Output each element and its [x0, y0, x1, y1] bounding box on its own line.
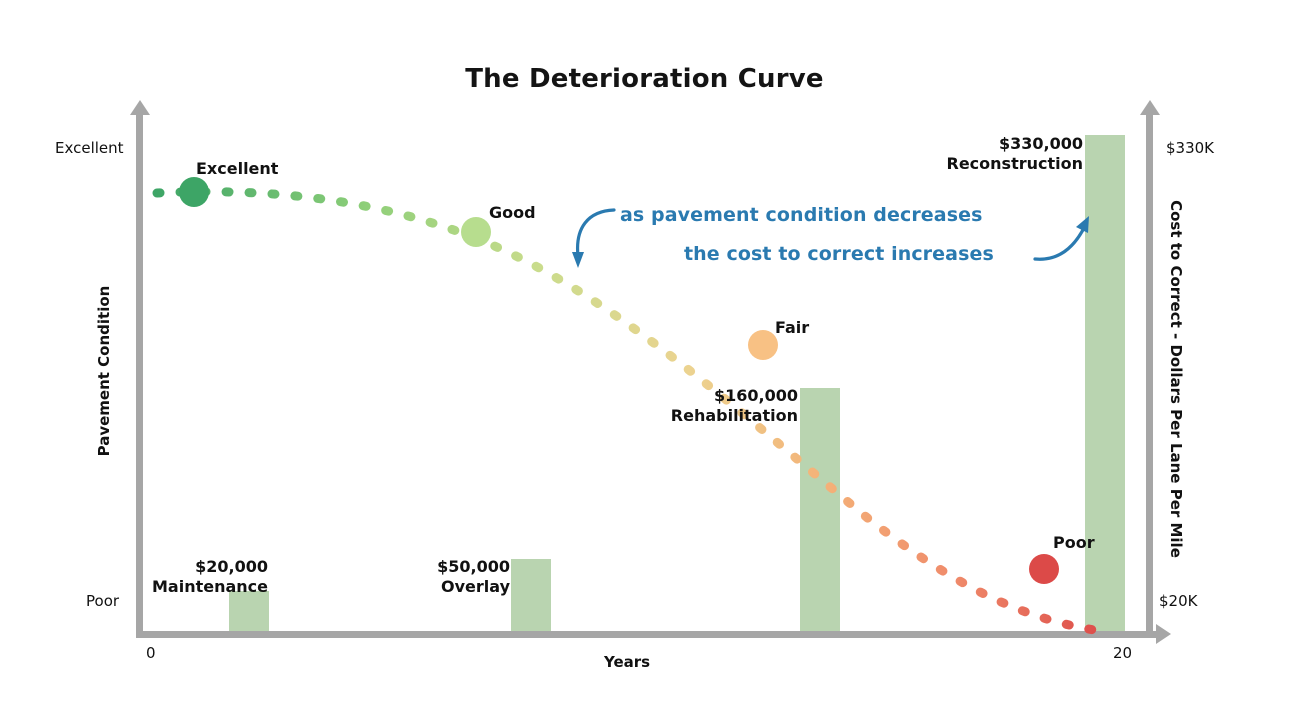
- bar-amount-overlay: $50,000: [260, 557, 510, 577]
- bar-name-rehabilitation: Rehabilitation: [540, 406, 798, 426]
- right-axis-arrow-icon: [1140, 100, 1160, 115]
- right-axis-title-wrap: Cost to Correct - Dollars Per Lane Per M…: [1164, 168, 1188, 588]
- right-axis-tick-20k: $20K: [1159, 592, 1197, 610]
- point-label-fair: Fair: [775, 318, 809, 337]
- bar-amount-rehabilitation: $160,000: [540, 386, 798, 406]
- bar-amount-reconstruction: $330,000: [820, 134, 1083, 154]
- point-marker-excellent: [179, 177, 209, 207]
- bar-overlay: [511, 559, 551, 631]
- right-axis-title: Cost to Correct - Dollars Per Lane Per M…: [1167, 169, 1185, 589]
- annotation-arrow-right-path: [1035, 226, 1085, 259]
- annotation-line-1: as pavement condition decreases: [620, 204, 983, 226]
- left-axis-arrow-icon: [130, 100, 150, 115]
- bar-label-overlay: $50,000 Overlay: [260, 557, 510, 598]
- right-axis-line: [1146, 112, 1153, 636]
- bar-rehabilitation: [800, 388, 840, 631]
- annotation-arrow-left-path: [578, 210, 614, 256]
- bar-amount-maintenance: $20,000: [0, 557, 268, 577]
- point-marker-good: [461, 217, 491, 247]
- point-label-poor: Poor: [1053, 533, 1095, 552]
- left-axis-tick-poor: Poor: [86, 592, 119, 610]
- x-axis-arrow-icon: [1156, 624, 1171, 644]
- x-axis-title: Years: [604, 653, 650, 671]
- bar-label-reconstruction: $330,000 Reconstruction: [820, 134, 1083, 175]
- right-axis-tick-330k: $330K: [1166, 139, 1214, 157]
- x-axis-tick-0: 0: [146, 644, 156, 662]
- bar-reconstruction: [1085, 135, 1125, 631]
- x-axis-line: [136, 631, 1156, 638]
- bar-name-reconstruction: Reconstruction: [820, 154, 1083, 174]
- annotation-line-2: the cost to correct increases: [684, 243, 994, 265]
- bar-label-maintenance: $20,000 Maintenance: [0, 557, 268, 598]
- point-marker-fair: [748, 330, 778, 360]
- chart-title: The Deterioration Curve: [0, 64, 1289, 94]
- annotation-arrow-left-head-icon: [572, 252, 584, 268]
- point-label-excellent: Excellent: [196, 159, 278, 178]
- left-axis-tick-excellent: Excellent: [55, 139, 124, 157]
- bar-name-overlay: Overlay: [260, 577, 510, 597]
- point-label-good: Good: [489, 203, 536, 222]
- bar-name-maintenance: Maintenance: [0, 577, 268, 597]
- left-axis-title: Pavement Condition: [95, 261, 113, 481]
- deterioration-curve-chart: The Deterioration Curve Excellen: [0, 0, 1289, 720]
- point-marker-poor: [1029, 554, 1059, 584]
- bar-label-rehabilitation: $160,000 Rehabilitation: [540, 386, 798, 427]
- left-axis-title-wrap: Pavement Condition: [92, 260, 116, 480]
- x-axis-tick-20: 20: [1113, 644, 1132, 662]
